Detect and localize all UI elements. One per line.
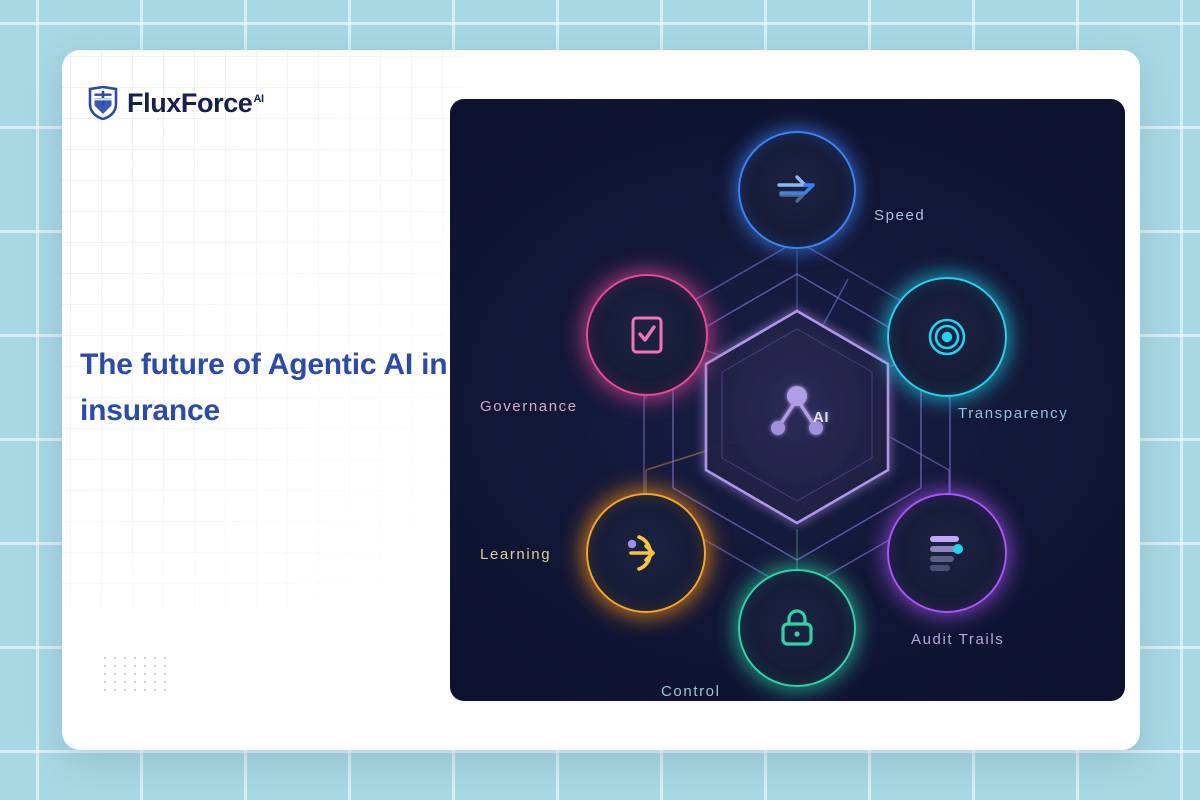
page-root: FluxForceAI The future of Agentic AI in … [0,0,1200,800]
brand-name-text: FluxForce [127,88,252,118]
diagram-node-audit-trails[interactable] [887,493,1007,613]
diagram-label-audit-trails: Audit Trails [911,631,1004,648]
shield-icon [88,86,118,120]
padlock-icon [778,607,816,649]
brand-superscript: AI [253,93,263,105]
diagram-node-control[interactable] [738,569,856,687]
diagram-label-speed: Speed [874,207,925,224]
brand-name: FluxForceAI [127,88,264,119]
diagram-label-control: Control [661,683,721,700]
diagram-panel: Speed Transparency [450,99,1125,701]
diagram-label-transparency: Transparency [958,405,1068,422]
brand-logo[interactable]: FluxForceAI [88,86,264,120]
diagram-node-governance[interactable] [586,274,708,396]
diagram-node-learning[interactable] [586,493,706,613]
card-grid-pattern [62,50,462,610]
target-rings-icon [926,316,968,358]
double-arrow-icon [775,173,819,207]
list-bars-icon [926,533,968,573]
diagram-node-speed[interactable] [738,131,856,249]
dot-grid-pattern [100,654,172,696]
diagram-label-learning: Learning [480,546,551,563]
page-title: The future of Agentic AI in insurance [80,342,480,434]
content-card: FluxForceAI The future of Agentic AI in … [62,50,1140,750]
checkbox-check-icon [629,314,665,356]
arrow-into-bracket-icon [623,533,669,573]
diagram-node-transparency[interactable] [887,277,1007,397]
diagram-label-governance: Governance [480,398,578,415]
